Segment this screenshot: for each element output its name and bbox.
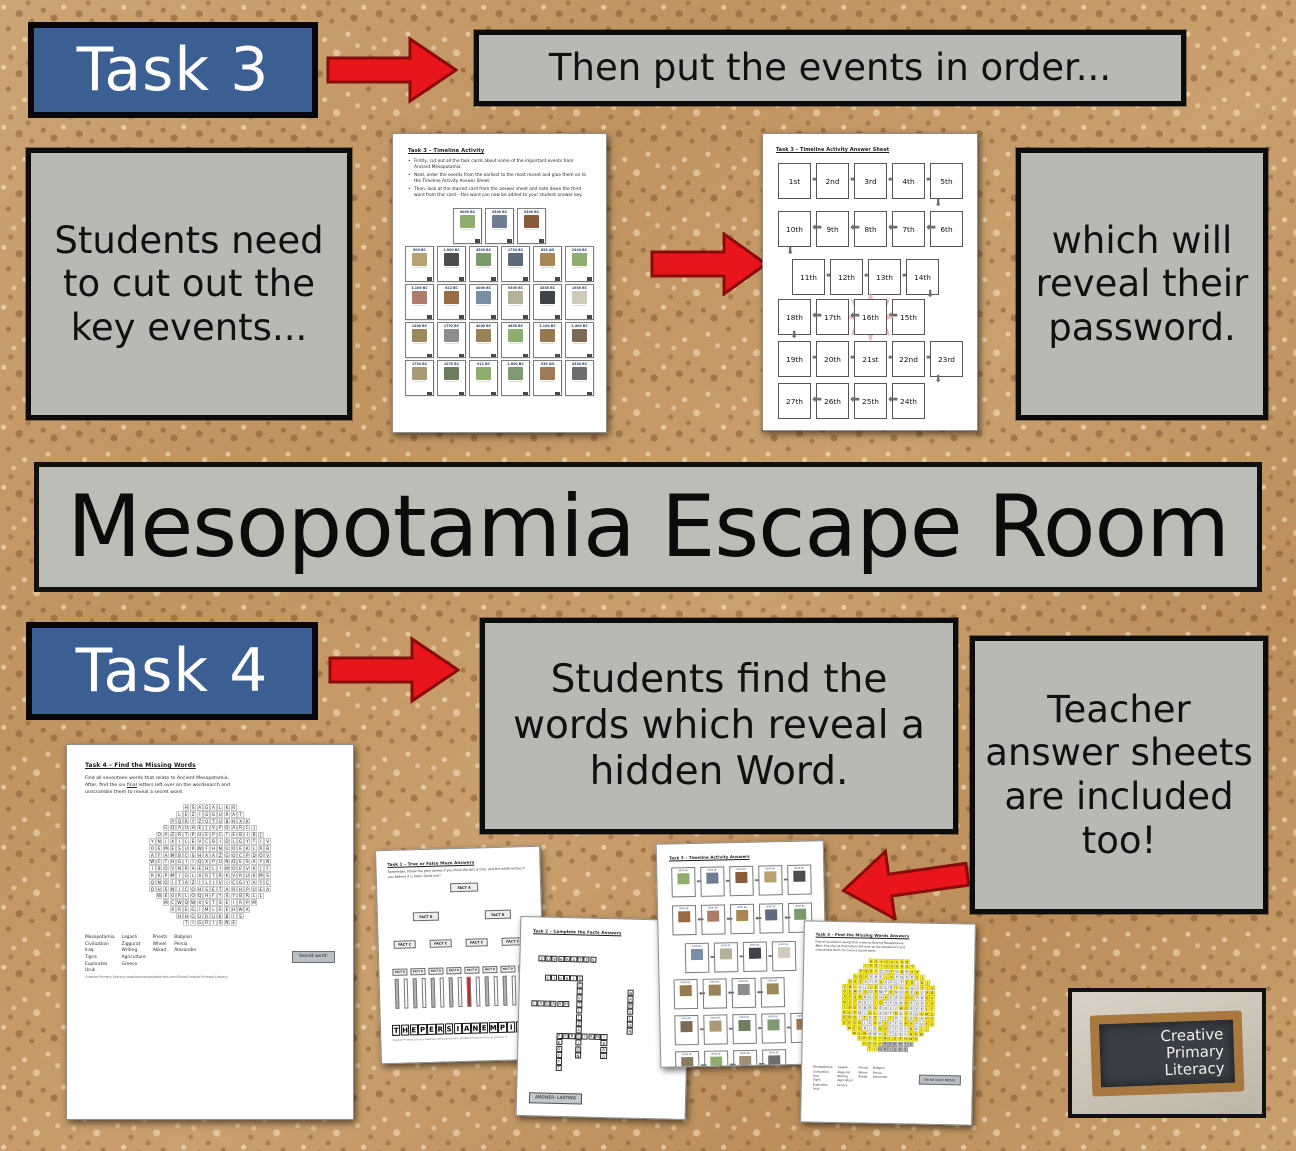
wordsearch-cell: Z — [217, 852, 223, 858]
secret-word-box[interactable]: Secret word: — [292, 951, 335, 963]
timeline-answer-card: 0000 BC — [759, 903, 784, 933]
wordsearch-cell: J — [258, 832, 264, 838]
timeline-card-caption: ——— —— — [541, 305, 554, 308]
callout-then-put-events-in-order: Then put the events in order... — [474, 30, 1186, 106]
ordinal-box[interactable]: 11th — [792, 259, 825, 295]
flow-arrow: ⬅ — [729, 1061, 736, 1068]
sheet-task4-wordsearch[interactable]: Task 4 – Find the Missing Words Find all… — [66, 744, 354, 1120]
ordinal-box[interactable]: 23rd — [930, 341, 963, 377]
timeline-answer-card-date: 0000 BC — [681, 1017, 691, 1020]
timeline-answer-card: 0000 BC — [704, 1050, 729, 1067]
word-list-item: Uruk — [85, 968, 115, 975]
crossword-cell: N — [575, 1052, 581, 1058]
timeline-card-image — [508, 367, 523, 380]
timeline-card-image — [476, 329, 491, 342]
sheet-task1-footer: Creative Primary Literacy www.teacherspa… — [392, 1035, 533, 1042]
flow-arrow: ⬅ — [850, 221, 860, 233]
timeline-card-row: 1400 BC——— ——1792 BC——— ——4000 BC——— ——4… — [405, 322, 594, 358]
timeline-card-image — [540, 253, 555, 266]
wordsearch-cell: M — [251, 899, 257, 905]
crossword-cell: Q — [600, 1053, 606, 1059]
brand-logo: Creative Primary Literacy — [1068, 988, 1266, 1118]
timeline-answer-card: 0000 BC — [700, 866, 725, 896]
wordsearch-row: YNIXILEVCBIDLGYTIV — [149, 838, 271, 844]
wordsearch-cell: G — [170, 893, 176, 899]
timeline-card-date: 1754 BC — [412, 362, 427, 366]
timeline-card-date: 2,400 BC — [571, 324, 588, 328]
maze-arrow — [413, 979, 418, 1009]
wordsearch-cell: M — [163, 899, 169, 905]
timeline-card[interactable]: 1070 BC——— —— — [437, 360, 466, 396]
timeline-card-image — [412, 253, 427, 266]
timeline-card-badge — [491, 354, 496, 358]
wordsearch-grid[interactable]: HSAGALKRLEZIGGURATPQRYZOTUBHXKGQAUHEJVPQ… — [85, 804, 335, 926]
wordsearch-cell: E — [237, 865, 243, 871]
wordsearch-cell: B — [264, 845, 270, 851]
timeline-card-image — [444, 291, 459, 304]
timeline-card-date: 1,800 BC — [507, 362, 524, 366]
timeline-answer-card-image — [680, 985, 692, 996]
timeline-card[interactable]: 2494 BC——— —— — [565, 246, 594, 282]
wordsearch-cell: B — [237, 893, 243, 899]
wordsearch-row: WCTHGIIQXPUNOESAYN — [149, 859, 271, 865]
crossword-cell: I — [582, 1033, 588, 1039]
wordsearch-cell: G — [203, 811, 209, 817]
timeline-card-date: 625 AD — [541, 248, 554, 252]
flow-arrow: ⬅ — [697, 916, 704, 924]
wordsearch-cell: I — [231, 899, 237, 905]
wordsearch-cell: U — [251, 886, 257, 892]
wordsearch-cell: M — [170, 852, 176, 858]
wordsearch-cell: R — [231, 804, 237, 810]
timeline-card-row: 4000 BC——— ——4500 BC——— ——3300 BC——— —— — [453, 208, 546, 244]
wordsearch-cell: S — [190, 804, 196, 810]
wordsearch-cell: C — [183, 886, 189, 892]
wordsearch-cell: K — [244, 818, 250, 824]
wordsearch-cell: A — [264, 886, 270, 892]
crossword-cell: S — [575, 1033, 581, 1039]
timeline-answer-card: 0000 BC — [675, 1051, 700, 1068]
timeline-card[interactable]: 1754 BC——— —— — [501, 246, 530, 282]
timeline-card[interactable]: 539 AD——— —— — [533, 360, 562, 396]
wordsearch-cell: N — [156, 879, 162, 885]
timeline-card-badge — [491, 392, 496, 396]
sheet-task3-answers-title: Task 3 – Timeline Activity Answers — [669, 853, 811, 861]
timeline-card-badge — [523, 315, 528, 319]
timeline-card-caption: ——— —— — [413, 305, 426, 308]
red-arrow-task4 — [328, 636, 460, 704]
wordsearch-cell: S — [217, 920, 223, 926]
wordsearch-cell: L — [258, 893, 264, 899]
timeline-card-badge — [587, 277, 592, 281]
wordsearch-cell: R — [231, 886, 237, 892]
crossword-cell: G — [544, 1000, 550, 1006]
timeline-card-caption: ——— —— — [573, 305, 586, 308]
timeline-card-image — [508, 329, 523, 342]
maze-fact-leaf: FACT D — [446, 967, 461, 974]
sheet-task3-timeline-activity[interactable]: Task 3 – Timeline Activity Firstly, cut … — [392, 133, 607, 433]
hidden-word-letter: P — [418, 1024, 427, 1035]
timeline-card-deck: 4000 BC——— ——4500 BC——— ——3300 BC——— ——5… — [408, 208, 591, 397]
wordsearch-cell: O — [149, 886, 155, 892]
maze-arrow — [485, 977, 490, 1007]
wordsearch-cell: O — [156, 832, 162, 838]
timeline-card-caption: ——— —— — [413, 343, 426, 346]
timeline-card[interactable]: 1,900 BC——— —— — [437, 246, 466, 282]
wordsearch-cell: X — [197, 872, 203, 878]
timeline-card[interactable]: 4500 BC——— —— — [485, 208, 514, 244]
wordsearch-cell: I — [170, 879, 176, 885]
list-item: Firstly, cut out all the task cards abou… — [408, 159, 591, 171]
hidden-word-letter: E — [427, 1024, 436, 1035]
list-item: Then, look at the starred card from the … — [408, 187, 591, 199]
wordsearch-cell: X — [237, 818, 243, 824]
timeline-card-caption: ——— —— — [573, 343, 586, 346]
timeline-answer-card-date: 0000 BC — [767, 979, 777, 982]
wordsearch-cell: X — [197, 899, 203, 905]
crossword-cell: S — [590, 957, 596, 963]
maze-arrow — [458, 977, 463, 1007]
wordsearch-cell: B — [224, 913, 230, 919]
word-list-item: Alexander — [873, 1075, 888, 1080]
wordsearch-cell: A — [183, 879, 189, 885]
timeline-card[interactable]: 1792 BC——— —— — [437, 322, 466, 358]
sheet-task3-answer-title: Task 3 – Timeline Activity Answer Sheet — [776, 147, 964, 153]
wordsearch-cell: I — [244, 832, 250, 838]
sheet-task3-activity-bullets: Firstly, cut out all the task cards abou… — [408, 159, 591, 200]
timeline-card-image — [412, 291, 427, 304]
wordsearch-cell: P — [244, 852, 250, 858]
maze-fact-node: FACT B — [413, 912, 439, 922]
crossword-cell: U — [545, 956, 551, 962]
ordinal-box[interactable]: 4th — [892, 163, 925, 199]
timeline-card[interactable]: 3,100 BC——— —— — [405, 284, 434, 320]
timeline-answer-card: 0000 BC — [772, 941, 797, 971]
timeline-card[interactable]: 9500 BC——— —— — [501, 284, 530, 320]
timeline-answer-card-date: 0000 BC — [769, 1051, 779, 1054]
timeline-card[interactable]: 2,400 BC——— —— — [565, 322, 594, 358]
crossword-cell: B — [628, 990, 634, 996]
timeline-card-date: 1792 BC — [444, 324, 459, 328]
wordsearch-cell: L — [217, 804, 223, 810]
timeline-answer-card: 0000 BC — [674, 1015, 699, 1045]
wordsearch-cell: A — [190, 865, 196, 871]
wordsearch-cell: V — [264, 838, 270, 844]
ordinal-box[interactable]: 1st — [778, 163, 811, 199]
wordsearch-cell: P — [217, 825, 223, 831]
timeline-card[interactable]: 4500 BC——— —— — [469, 246, 498, 282]
timeline-answer-card-date: 0000 BC — [692, 945, 702, 948]
wordsearch-cell: G — [237, 879, 243, 885]
wordsearch-row: IBOVNRAEHLIWOEVKJF — [149, 865, 271, 871]
timeline-card-caption: ——— —— — [573, 381, 586, 384]
hidden-word-strip: THEPERSIANEMPIRE — [392, 1021, 533, 1036]
wordsearch-cell: Q — [176, 818, 182, 824]
wordsearch-cell: K — [224, 872, 230, 878]
wordsearch-cell: A — [176, 825, 182, 831]
crossword-cell: I — [576, 988, 582, 994]
wordsearch-cell: R — [224, 811, 230, 817]
timeline-answer-card-image — [709, 984, 721, 995]
flow-arrow-turn: ⬇ — [790, 331, 798, 341]
wordsearch-cell: O — [231, 852, 237, 858]
timeline-card[interactable]: 922 BC——— —— — [437, 284, 466, 320]
wordsearch-cell: T — [163, 859, 169, 865]
wordsearch-row: AFAMBCSHAAZGOCPDOV — [149, 852, 271, 858]
wordsearch-cell: C — [244, 825, 250, 831]
task4-secret-label: Secret word: — [924, 1078, 944, 1082]
timeline-card-badge — [555, 277, 560, 281]
wordsearch-cell: H — [237, 886, 243, 892]
timeline-answer-card: 0000 BC — [672, 905, 697, 935]
ordinal-box[interactable]: 27th — [778, 383, 811, 419]
timeline-card-badge — [459, 315, 464, 319]
timeline-answer-card: 0000 BC — [714, 942, 739, 972]
timeline-answer-card: 0000 BC — [703, 1014, 728, 1044]
wordsearch-cell: F — [156, 852, 162, 858]
timeline-answer-card: 0000 BC — [729, 866, 754, 896]
wordsearch-cell: V — [930, 985, 935, 990]
crossword-cell: R — [564, 975, 570, 981]
crossword-cell: O — [627, 1022, 633, 1028]
timeline-card[interactable]: 4550 BC——— —— — [533, 284, 562, 320]
ordinal-box[interactable]: 13th — [868, 259, 901, 295]
instruction-underlined: final — [127, 783, 137, 788]
timeline-answer-card-date: 0000 BC — [707, 868, 717, 871]
wordsearch-cell: C — [203, 838, 209, 844]
wordsearch-cell: P — [244, 886, 250, 892]
wordsearch-cell: U — [217, 859, 223, 865]
timeline-card[interactable]: 500 BC——— —— — [405, 246, 434, 282]
maze-fact-leaf: FACT D — [464, 967, 479, 974]
wordsearch-cell: I — [258, 838, 264, 844]
word-list-item: Greece — [837, 1083, 853, 1088]
timeline-card[interactable]: 3,100 BC——— —— — [533, 322, 562, 358]
wordsearch-cell: Y — [244, 879, 250, 885]
timeline-card-caption: ——— —— — [445, 267, 458, 270]
timeline-card-date: 4500 BC — [492, 210, 507, 214]
timeline-card[interactable]: 1400 BC——— —— — [405, 322, 434, 358]
wordsearch-cell: C — [217, 832, 223, 838]
wordsearch-row: WEGRLOQHFYSYBRLL — [156, 893, 264, 899]
wordsearch-cell: U — [217, 811, 223, 817]
ordinal-box[interactable]: 2nd — [816, 163, 849, 199]
word-list-item: Agriculture — [122, 955, 146, 962]
wordsearch-cell: E — [170, 845, 176, 851]
flow-arrow: ⬅ — [888, 393, 898, 405]
ordinal-box[interactable]: 22nd — [892, 341, 925, 377]
wordsearch-cell: N — [176, 865, 182, 871]
timeline-card[interactable]: 1754 BC——— —— — [405, 360, 434, 396]
wordsearch-cell: Y — [258, 879, 264, 885]
crossword-cell: I — [601, 1034, 607, 1040]
wordsearch-cell: X — [203, 859, 209, 865]
timeline-card-image — [444, 253, 459, 266]
hidden-word-letter: E — [480, 1023, 489, 1034]
wordsearch-cell: S — [203, 886, 209, 892]
timeline-card-image — [508, 291, 523, 304]
task-3-tag-label: Task 3 — [77, 35, 270, 105]
timeline-card[interactable]: 1950 BC——— —— — [565, 284, 594, 320]
crossword-cell: A — [601, 1047, 607, 1053]
task-4-tag: Task 4 — [26, 622, 318, 720]
wordsearch-cell: H — [170, 859, 176, 865]
wordsearch-cell: J — [258, 865, 264, 871]
wordsearch-cell: A — [251, 859, 257, 865]
wordsearch-cell: V — [244, 865, 250, 871]
timeline-answer-card-image — [739, 1056, 751, 1067]
wordsearch-cell: H — [176, 913, 182, 919]
timeline-answer-card: 0000 BC — [671, 867, 696, 897]
timeline-card[interactable]: 4000 BC——— —— — [469, 322, 498, 358]
ordinal-box[interactable]: 5th — [930, 163, 963, 199]
instruction-pre: After, find the six — [85, 783, 127, 788]
wordsearch-cell: I — [190, 920, 196, 926]
timeline-answer-card: 0000 BC — [787, 865, 812, 895]
timeline-card-caption: ——— —— — [509, 305, 522, 308]
timeline-card-image — [572, 253, 587, 266]
timeline-answer-card-image — [691, 949, 703, 960]
wordsearch-cell: T — [910, 964, 915, 969]
timeline-card[interactable]: 911 BC——— —— — [469, 360, 498, 396]
word-list-column: BabylonPersiaAlexander — [174, 935, 196, 975]
hidden-word-letter: A — [462, 1023, 471, 1034]
sheet-task4-instructions: Find all seventeen words that relate to … — [85, 776, 335, 796]
wordsearch-cell: S — [264, 872, 270, 878]
flow-arrow: ⬅ — [850, 309, 860, 321]
hidden-word-letter: I — [507, 1022, 516, 1033]
maze-arrow — [431, 978, 436, 1008]
wordsearch-cell: Q — [183, 899, 189, 905]
timeline-card[interactable]: 4334 BC——— —— — [565, 360, 594, 396]
wordsearch-cell: W — [190, 899, 196, 905]
wordsearch-cell: L — [203, 879, 209, 885]
sheet-task3-timeline-answer-sheet[interactable]: Task 3 – Timeline Activity Answer Sheet … — [762, 133, 978, 431]
wordsearch-cell: S — [244, 859, 250, 865]
wordsearch-cell: Q — [197, 859, 203, 865]
timeline-card[interactable]: 3300 BC——— —— — [517, 208, 546, 244]
timeline-answer-card: 0000 BC — [732, 1014, 757, 1044]
timeline-card-badge — [491, 315, 496, 319]
maze-arrow — [512, 976, 517, 1006]
crossword-cell: T — [555, 1065, 561, 1071]
wordsearch-cell: H — [197, 852, 203, 858]
wordsearch-cell: E — [203, 832, 209, 838]
wordsearch-cell: R — [176, 832, 182, 838]
crossword-cell: P — [552, 956, 558, 962]
timeline-card[interactable]: 1,800 BC——— —— — [501, 360, 530, 396]
wordsearch-cell: K — [915, 969, 920, 974]
wordsearch-cell: U — [244, 872, 250, 878]
wordsearch-cell: O — [231, 845, 237, 851]
wordsearch-cell: K — [251, 872, 257, 878]
ordinal-box[interactable]: 10th — [778, 211, 811, 247]
flow-arrow: ⬅ — [758, 1061, 765, 1068]
timeline-card-badge — [427, 315, 432, 319]
timeline-card[interactable]: 4650 BC——— —— — [501, 322, 530, 358]
crossword-cell: L — [627, 1015, 633, 1021]
timeline-answer-card: 0000 BC — [733, 1050, 758, 1068]
wordsearch-cell: H — [210, 845, 216, 851]
word-list-item: Babylon — [174, 935, 196, 942]
timeline-card-date: 911 BC — [477, 362, 490, 366]
wordsearch-cell: O — [163, 879, 169, 885]
timeline-card-caption: ——— —— — [525, 229, 538, 232]
wordsearch-cell: T — [251, 838, 257, 844]
crossword-cell: A — [550, 1001, 556, 1007]
maze-arrow — [440, 978, 445, 1008]
crossword-cell: I — [576, 1014, 582, 1020]
maze-fact-node: FACT C — [394, 941, 416, 950]
timeline-card[interactable]: 625 AD——— —— — [533, 246, 562, 282]
wordsearch-cell: E — [163, 893, 169, 899]
wordsearch-cell: J — [925, 980, 930, 985]
wordsearch-cell: A — [231, 825, 237, 831]
task2-answer-row: ANSWER: LASTING — [529, 1083, 673, 1106]
crossword-cell: P — [556, 1033, 562, 1039]
wordsearch-cell: R — [149, 872, 155, 878]
timeline-answer-card-image — [735, 872, 747, 883]
wordsearch-row: HSAGALKR — [183, 804, 237, 810]
timeline-answer-card: 0000 BC — [758, 865, 783, 895]
wordsearch-cell: J — [251, 825, 257, 831]
wordsearch-cell: P — [163, 872, 169, 878]
wordsearch-cell: H — [231, 818, 237, 824]
wordsearch-cell: R — [258, 845, 264, 851]
word-list-column: MesopotamiaCivilizationIraqTigrisEuphrat… — [813, 1065, 833, 1092]
wordsearch-cell: I — [217, 838, 223, 844]
sheet-task4-wordsearch-answers[interactable]: Task 4 – Find the Missing Words Answers … — [800, 920, 976, 1125]
timeline-card-badge — [507, 239, 512, 243]
wordsearch-cell: J — [920, 975, 925, 980]
wordsearch-cell: L — [176, 811, 182, 817]
timeline-card[interactable]: 4000 BC——— —— — [453, 208, 482, 244]
ordinal-box[interactable]: 21st — [854, 341, 887, 377]
wordsearch-cell: E — [197, 825, 203, 831]
crossword-cell: Y — [556, 1052, 562, 1058]
timeline-card[interactable]: 4000 BC——— —— — [469, 284, 498, 320]
timeline-card-badge — [555, 315, 560, 319]
sheet-task4-answers-instructions: Find all seventeen words that relate to … — [815, 940, 963, 955]
wordsearch-cell: O — [258, 852, 264, 858]
flow-arrow: ⬅ — [726, 915, 733, 923]
timeline-answer-card: 0000 BC — [701, 904, 726, 934]
wordsearch-cell: H — [183, 804, 189, 810]
ordinal-box[interactable]: 20th — [816, 341, 849, 377]
word-list-item: Mesopotamia — [85, 935, 115, 942]
timeline-answer-card-date: 0000 BC — [721, 944, 731, 947]
wordsearch-cell: R — [244, 893, 250, 899]
timeline-answer-card-image — [738, 984, 750, 995]
wordsearch-cell: H — [190, 825, 196, 831]
ordinal-box[interactable]: 3rd — [854, 163, 887, 199]
sheet-task2-title: Task 2 – Complete the Facts Answers — [533, 928, 677, 937]
timeline-answer-card: 0000 BC — [674, 979, 699, 1009]
crossword-cell: I — [575, 1040, 581, 1046]
wordsearch-row: OHSNICOHSETARHPUEA — [149, 886, 271, 892]
maze-fact-node: FACT C — [466, 939, 488, 948]
wordsearch-cell: O — [190, 893, 196, 899]
wordsearch-cell: P — [210, 832, 216, 838]
word-list-column: LagashZigguratWritingAgricultureGreece — [122, 935, 146, 975]
wordsearch-cell: I — [217, 865, 223, 871]
crossword-cell: G — [556, 1045, 562, 1051]
wordsearch-cell: A — [149, 852, 155, 858]
timeline-card-badge — [427, 392, 432, 396]
wordsearch-cell: I — [197, 906, 203, 912]
ordinal-box[interactable]: 19th — [778, 341, 811, 377]
ordinal-box[interactable]: 12th — [830, 259, 863, 295]
